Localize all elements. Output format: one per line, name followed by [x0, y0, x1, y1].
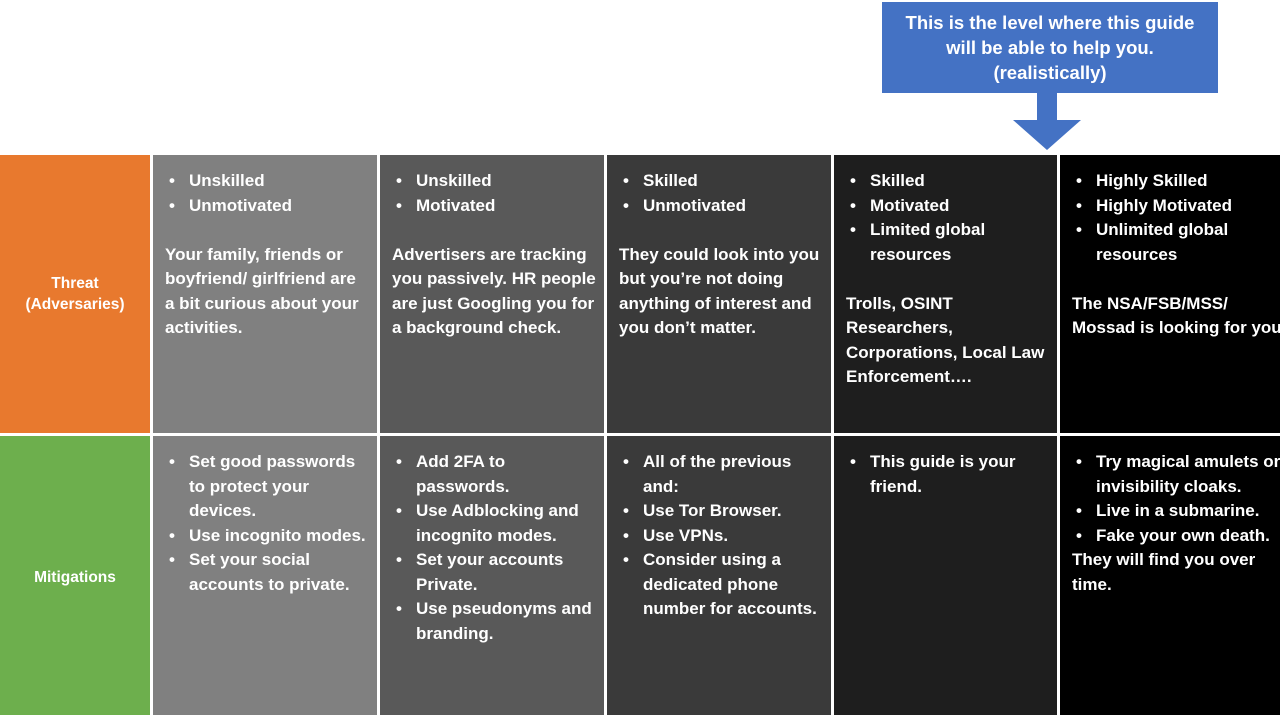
threat-cell-level-3: Skilled Unmotivated They could look into… [607, 155, 831, 433]
threat-model-matrix-page: This is the level where this guide will … [0, 0, 1280, 715]
list-item: Fake your own death. [1072, 524, 1280, 549]
list-item: Motivated [846, 194, 1049, 219]
list-item: Skilled [619, 169, 823, 194]
list-item: This guide is your friend. [846, 450, 1049, 499]
list-item: Try magical amulets or invisibility cloa… [1072, 450, 1280, 499]
mitigations-bullets-level-1: Set good passwords to protect your devic… [165, 450, 369, 597]
list-item: Use Tor Browser. [619, 499, 823, 524]
list-item: Consider using a dedicated phone number … [619, 548, 823, 622]
mitigations-bullets-level-4: This guide is your friend. [846, 450, 1049, 499]
threat-bullets-level-4: Skilled Motivated Limited global resourc… [846, 169, 1049, 267]
threat-cell-level-1: Unskilled Unmotivated Your family, frien… [153, 155, 377, 433]
threat-bullets-level-2: Unskilled Motivated [392, 169, 596, 218]
list-item: Use VPNs. [619, 524, 823, 549]
list-item: Live in a submarine. [1072, 499, 1280, 524]
guide-level-callout: This is the level where this guide will … [882, 2, 1218, 93]
list-item: All of the previous and: [619, 450, 823, 499]
callout-line-1: This is the level where this guide [906, 10, 1195, 35]
list-item: Use Adblocking and incognito modes. [392, 499, 596, 548]
threat-cell-level-5: Highly Skilled Highly Motivated Unlimite… [1060, 155, 1280, 433]
list-item: Skilled [846, 169, 1049, 194]
down-arrow-icon [1003, 92, 1091, 152]
mitigations-cell-level-4: This guide is your friend. [834, 436, 1057, 715]
list-item: Highly Motivated [1072, 194, 1280, 219]
list-item: Motivated [392, 194, 596, 219]
threat-cell-level-2: Unskilled Motivated Advertisers are trac… [380, 155, 604, 433]
threat-paragraph-level-1: Your family, friends or boyfriend/ girlf… [165, 243, 369, 341]
mitigations-tail-level-5: They will find you over time. [1072, 548, 1280, 597]
mitigations-bullets-level-3: All of the previous and: Use Tor Browser… [619, 450, 823, 622]
list-item: Use incognito modes. [165, 524, 369, 549]
list-item: Add 2FA to passwords. [392, 450, 596, 499]
mitigations-bullets-level-5: Try magical amulets or invisibility cloa… [1072, 450, 1280, 548]
list-item: Use pseudonyms and branding. [392, 597, 596, 646]
row-label-mitigations-text: Mitigations [34, 567, 116, 588]
list-item: Highly Skilled [1072, 169, 1280, 194]
threat-bullets-level-5: Highly Skilled Highly Motivated Unlimite… [1072, 169, 1280, 267]
threat-paragraph-level-3: They could look into you but you’re not … [619, 243, 823, 341]
list-item: Unskilled [392, 169, 596, 194]
matrix-grid: Threat (Adversaries) Unskilled Unmotivat… [0, 155, 1280, 715]
callout-line-2: will be able to help you. [946, 35, 1154, 60]
mitigations-bullets-level-2: Add 2FA to passwords. Use Adblocking and… [392, 450, 596, 646]
row-label-threat: Threat (Adversaries) [0, 155, 150, 433]
row-label-threat-line1: Threat [25, 273, 124, 294]
list-item: Unskilled [165, 169, 369, 194]
threat-bullets-level-1: Unskilled Unmotivated [165, 169, 369, 218]
row-label-threat-line2: (Adversaries) [25, 294, 124, 315]
threat-paragraph-level-4: Trolls, OSINT Researchers, Corporations,… [846, 292, 1049, 390]
mitigations-cell-level-3: All of the previous and: Use Tor Browser… [607, 436, 831, 715]
list-item: Unmotivated [165, 194, 369, 219]
list-item: Unlimited global resources [1072, 218, 1280, 267]
threat-cell-level-4: Skilled Motivated Limited global resourc… [834, 155, 1057, 433]
threat-bullets-level-3: Skilled Unmotivated [619, 169, 823, 218]
mitigations-cell-level-2: Add 2FA to passwords. Use Adblocking and… [380, 436, 604, 715]
list-item: Unmotivated [619, 194, 823, 219]
threat-paragraph-level-5: The NSA/FSB/MSS/ Mossad is looking for y… [1072, 292, 1280, 341]
mitigations-cell-level-1: Set good passwords to protect your devic… [153, 436, 377, 715]
callout-line-3: (realistically) [993, 60, 1106, 85]
list-item: Set your accounts Private. [392, 548, 596, 597]
row-label-mitigations: Mitigations [0, 436, 150, 715]
mitigations-cell-level-5: Try magical amulets or invisibility cloa… [1060, 436, 1280, 715]
list-item: Set good passwords to protect your devic… [165, 450, 369, 524]
list-item: Limited global resources [846, 218, 1049, 267]
list-item: Set your social accounts to private. [165, 548, 369, 597]
threat-paragraph-level-2: Advertisers are tracking you passively. … [392, 243, 596, 341]
